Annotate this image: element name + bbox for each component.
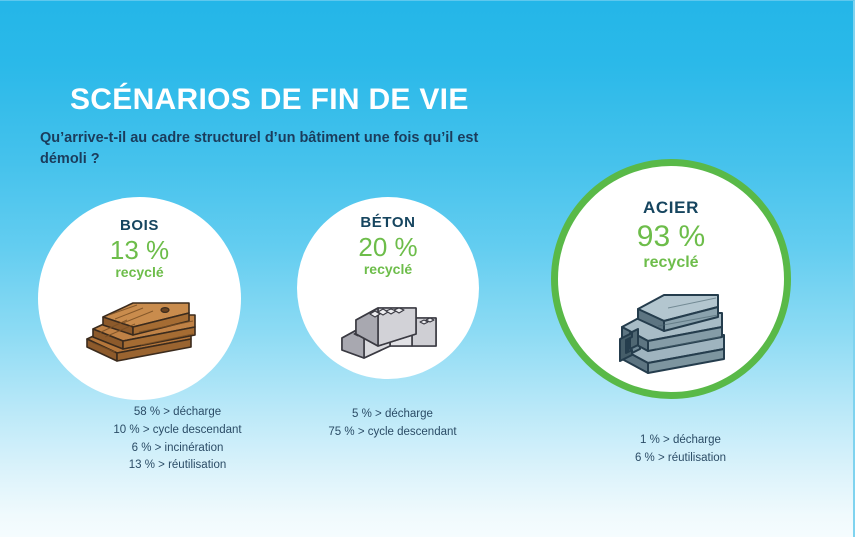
detail-line: 6 % > incinération — [65, 440, 290, 458]
page-subtitle: Qu’arrive-t-il au cadre structurel d’un … — [40, 128, 495, 170]
heading-block: SCÉNARIOS DE FIN DE VIE Qu’arrive-t-il a… — [40, 83, 560, 170]
material-recycled-bois: recyclé — [115, 265, 163, 280]
detail-line: 1 % > décharge — [588, 432, 773, 450]
material-circle-beton[interactable]: BÉTON 20 % recyclé — [297, 197, 479, 379]
material-label-acier: ACIER — [643, 198, 699, 218]
material-percent-acier: 93 % — [637, 221, 705, 253]
material-label-bois: BOIS — [120, 217, 159, 234]
material-circle-bois[interactable]: BOIS 13 % recyclé — [38, 197, 241, 400]
material-percent-beton: 20 % — [358, 234, 417, 261]
material-percent-bois: 13 % — [110, 237, 169, 264]
steel-beams-icon — [608, 275, 734, 381]
detail-line: 58 % > décharge — [65, 404, 290, 422]
concrete-blocks-icon — [332, 284, 444, 364]
details-bois: 58 % > décharge 10 % > cycle descendant … — [65, 404, 290, 475]
detail-line: 10 % > cycle descendant — [65, 422, 290, 440]
material-recycled-beton: recyclé — [364, 262, 412, 277]
material-label-beton: BÉTON — [360, 214, 415, 231]
details-beton: 5 % > décharge 75 % > cycle descendant — [300, 406, 485, 442]
wood-planks-icon — [79, 287, 201, 367]
detail-line: 5 % > décharge — [300, 406, 485, 424]
detail-line: 13 % > réutilisation — [65, 457, 290, 475]
details-acier: 1 % > décharge 6 % > réutilisation — [588, 432, 773, 468]
detail-line: 75 % > cycle descendant — [300, 424, 485, 442]
material-circle-acier[interactable]: ACIER 93 % recyclé — [551, 159, 791, 399]
infographic-poster: SCÉNARIOS DE FIN DE VIE Qu’arrive-t-il a… — [0, 0, 855, 537]
material-recycled-acier: recyclé — [643, 254, 698, 272]
detail-line: 6 % > réutilisation — [588, 450, 773, 468]
page-title: SCÉNARIOS DE FIN DE VIE — [40, 83, 560, 116]
